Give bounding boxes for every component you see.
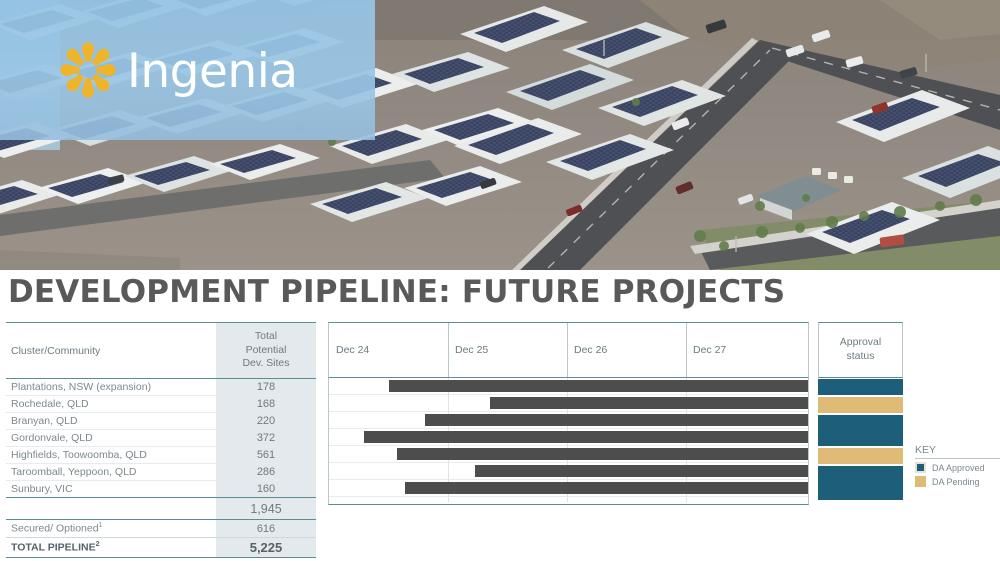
table-row: Plantations, NSW (expansion) 178 — [6, 379, 316, 396]
approval-status-header: Approval status — [818, 322, 903, 378]
row-name: Taroomball, Yeppoon, QLD — [6, 464, 216, 481]
header-total-line1: Total — [216, 330, 316, 343]
subtotal-row: 1,945 — [6, 498, 316, 520]
table-row: Highfields, Toowoomba, QLD 561 — [6, 447, 316, 464]
subtotal-label — [6, 498, 216, 520]
row-name: Plantations, NSW (expansion) — [6, 379, 216, 396]
approval-block-approved — [818, 466, 903, 500]
row-name: Sunbury, VIC — [6, 481, 216, 498]
legend-item-pending: DA Pending — [915, 476, 1000, 487]
secured-optioned-footnote: 1 — [99, 522, 103, 529]
table-row: Sunbury, VIC 160 — [6, 481, 316, 498]
legend-label-approved: DA Approved — [932, 463, 985, 473]
legend-divider — [915, 458, 1000, 459]
secured-optioned-row: Secured/ Optioned1 616 — [6, 520, 316, 538]
timeline-col-dec26: Dec 26 — [567, 323, 686, 377]
approval-header-line2: status — [840, 350, 881, 364]
secured-optioned-value: 616 — [216, 520, 316, 538]
total-pipeline-label: TOTAL PIPELINE2 — [6, 538, 216, 558]
row-name: Gordonvale, QLD — [6, 430, 216, 447]
timeline-chart: Dec 24 Dec 25 Dec 26 Dec 27 — [328, 322, 809, 505]
approval-block-approved — [818, 379, 903, 395]
row-name: Branyan, QLD — [6, 413, 216, 430]
table-row: Taroomball, Yeppoon, QLD 286 — [6, 464, 316, 481]
gantt-bar — [490, 397, 808, 409]
total-pipeline-text: TOTAL PIPELINE — [11, 542, 96, 554]
legend-key: KEY DA Approved DA Pending — [915, 444, 1000, 490]
table-row: Gordonvale, QLD 372 — [6, 430, 316, 447]
approval-block-approved — [818, 415, 903, 446]
brand-logo-panel: Ingenia — [0, 0, 375, 140]
gantt-bar — [389, 380, 808, 392]
row-sites: 160 — [216, 481, 316, 498]
table-header-row: Cluster/Community Total Potential Dev. S… — [6, 323, 316, 379]
page-title: DEVELOPMENT PIPELINE: FUTURE PROJECTS — [8, 275, 785, 309]
header-cluster-community: Cluster/Community — [6, 323, 216, 379]
approval-block-pending — [818, 448, 903, 464]
sun-starburst-icon — [58, 40, 118, 100]
legend-swatch-approved-icon — [915, 462, 926, 473]
header-total-line3: Dev. Sites — [216, 357, 316, 370]
total-pipeline-value: 5,225 — [216, 538, 316, 558]
table-row: Branyan, QLD 220 — [6, 413, 316, 430]
approval-block-pending — [818, 397, 903, 413]
row-sites: 178 — [216, 379, 316, 396]
subtotal-value: 1,945 — [216, 498, 316, 520]
approval-status-column: Approval status — [818, 322, 903, 505]
legend-item-approved: DA Approved — [915, 462, 1000, 473]
gantt-bar — [405, 482, 808, 494]
timeline-body — [328, 378, 809, 505]
row-sites: 561 — [216, 447, 316, 464]
timeline-header: Dec 24 Dec 25 Dec 26 Dec 27 — [328, 322, 809, 378]
table-row: Rochedale, QLD 168 — [6, 396, 316, 413]
approval-header-line1: Approval — [840, 336, 881, 350]
gantt-bar — [364, 431, 808, 443]
row-name: Rochedale, QLD — [6, 396, 216, 413]
content-area: Cluster/Community Total Potential Dev. S… — [0, 322, 1000, 561]
approval-status-blocks — [818, 378, 903, 505]
total-pipeline-row: TOTAL PIPELINE2 5,225 — [6, 538, 316, 558]
row-name: Highfields, Toowoomba, QLD — [6, 447, 216, 464]
gantt-bar — [425, 414, 808, 426]
row-sites: 220 — [216, 413, 316, 430]
total-pipeline-footnote: 2 — [96, 541, 100, 548]
header-total-line2: Potential — [216, 344, 316, 357]
row-sites: 372 — [216, 430, 316, 447]
timeline-col-dec25: Dec 25 — [448, 323, 567, 377]
brand-name: Ingenia — [127, 48, 298, 95]
row-sites: 286 — [216, 464, 316, 481]
gantt-bar — [397, 448, 808, 460]
pipeline-table: Cluster/Community Total Potential Dev. S… — [6, 322, 316, 558]
timeline-col-dec27: Dec 27 — [686, 323, 810, 377]
secured-optioned-label: Secured/ Optioned1 — [6, 520, 216, 538]
timeline-col-dec24: Dec 24 — [329, 323, 448, 377]
header-total-potential-dev-sites: Total Potential Dev. Sites — [216, 323, 316, 379]
slide: Ingenia DEVELOPMENT PIPELINE: FUTURE PRO… — [0, 0, 1000, 561]
legend-label-pending: DA Pending — [932, 477, 980, 487]
row-sites: 168 — [216, 396, 316, 413]
legend-title: KEY — [915, 444, 1000, 456]
gantt-bar — [475, 465, 808, 477]
legend-swatch-pending-icon — [915, 476, 926, 487]
secured-optioned-text: Secured/ Optioned — [11, 523, 99, 535]
